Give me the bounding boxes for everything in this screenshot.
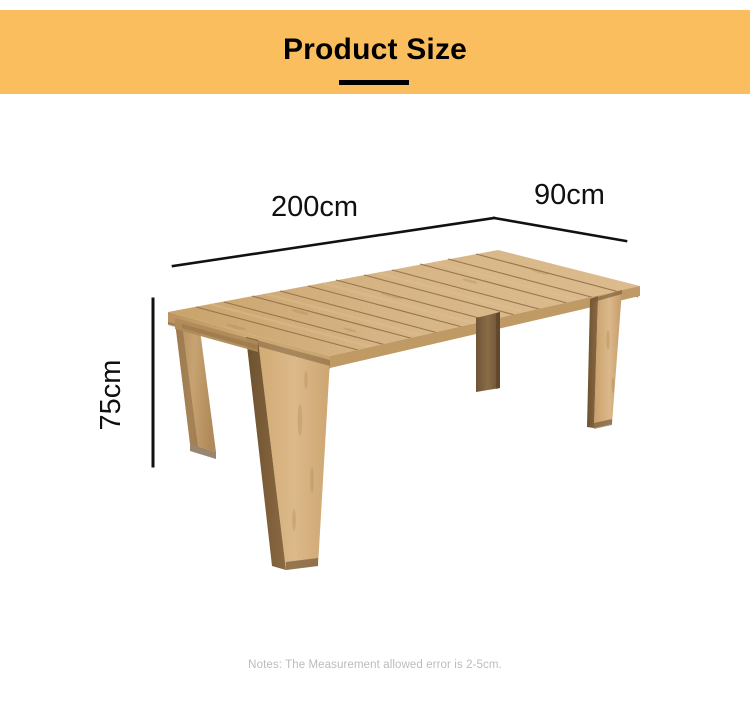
center-support-leg (476, 312, 500, 392)
left-leg-assembly (175, 318, 330, 570)
depth-dimension-label: 90cm (534, 179, 605, 212)
length-dimension-label: 200cm (271, 191, 358, 224)
height-dimension-label: 75cm (95, 335, 128, 455)
right-leg (587, 290, 622, 429)
product-size-page: Product Size (0, 0, 750, 701)
measurement-note: Notes: The Measurement allowed error is … (0, 659, 750, 671)
tabletop-group (168, 250, 640, 369)
